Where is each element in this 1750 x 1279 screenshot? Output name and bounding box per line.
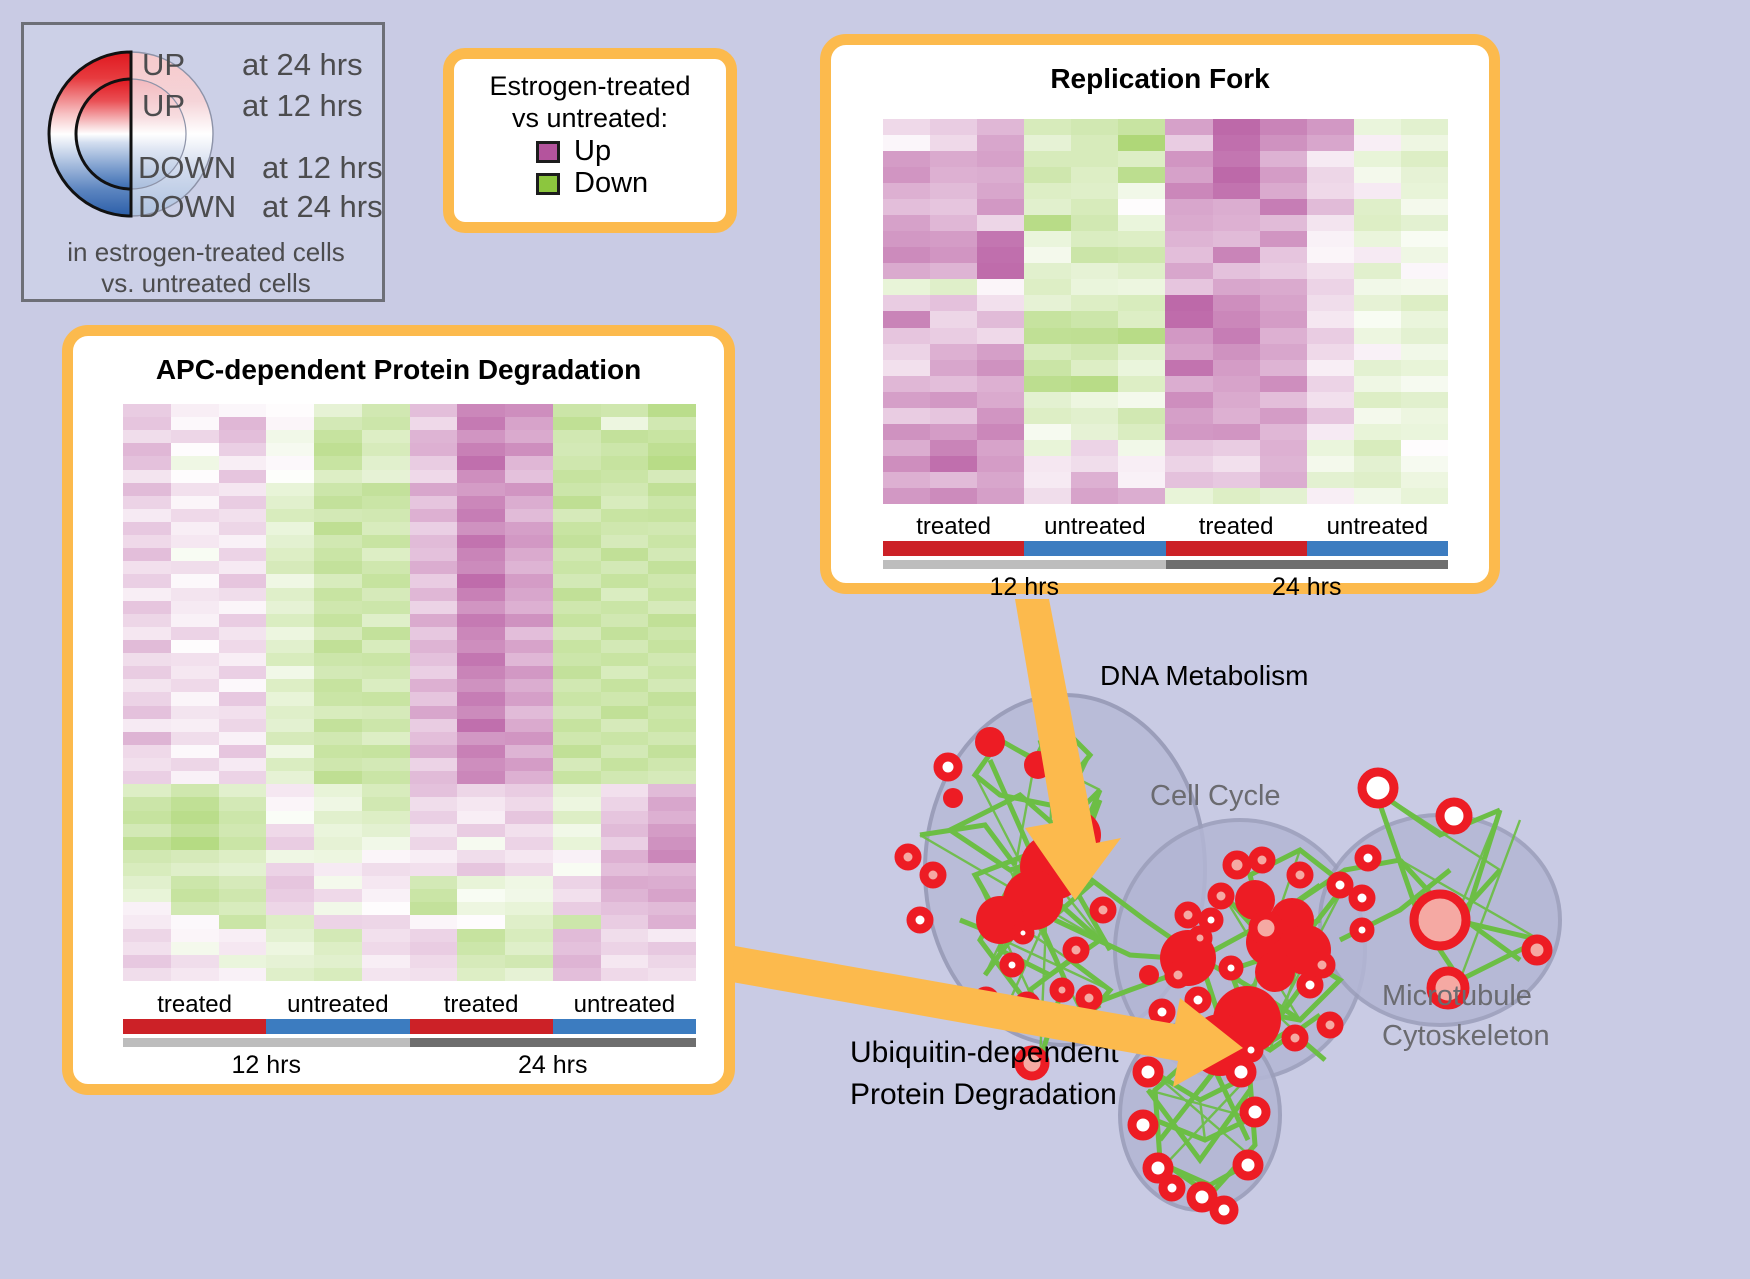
apc-group-label-2: treated [410,991,553,1019]
legend-swatch-down [536,173,560,195]
wheel-direction-down-24: DOWN [138,189,236,225]
cluster-label-cell-cycle: Cell Cycle [1150,780,1281,812]
apc-heatmap [123,404,696,981]
wheel-time-down-24: at 24 hrs [262,189,383,225]
apc-group-label-0: treated [123,991,266,1019]
color-wheel-legend-box: UP at 24 hrs UP at 12 hrs DOWN at 12 hrs… [21,22,385,302]
cluster-label-dna-metabolism: DNA Metabolism [1100,660,1309,691]
legend-item-up: Up [536,137,726,166]
cluster-label-ubiquitin-line2: Protein Degradation [850,1078,1117,1111]
wheel-direction-down-12: DOWN [138,150,236,186]
wheel-footer-line1: in estrogen-treated cells [24,237,388,268]
gene-network-diagram: DNA Metabolism Cell Cycle Microtubule Cy… [800,620,1750,1279]
wheel-time-up-24: at 24 hrs [242,47,363,83]
rf-group-label-2: treated [1166,513,1307,541]
replication-fork-axis: treated untreated treated untreated 12 h… [883,513,1448,602]
wheel-footer-text: in estrogen-treated cells vs. untreated … [24,237,388,298]
wheel-footer-line2: vs. untreated cells [24,268,388,299]
apc-group-label-3: untreated [553,991,696,1019]
rf-time-label-12: 12 hrs [883,573,1166,602]
rf-group-label-1: untreated [1024,513,1165,541]
legend-label-up: Up [574,137,611,166]
rf-group-label-0: treated [883,513,1024,541]
apc-group-label-1: untreated [266,991,409,1019]
cluster-label-ubiquitin-line1: Ubiquitin-dependent [850,1036,1119,1069]
rf-timepoint-bar [883,560,1448,569]
apc-time-label-24: 24 hrs [410,1051,697,1080]
wheel-time-down-12: at 12 hrs [262,150,383,186]
legend-title-line1: Estrogen-treated [454,71,726,103]
apc-timepoint-bar [123,1038,696,1047]
rf-time-labels: 12 hrs 24 hrs [883,573,1448,602]
replication-fork-panel: Replication Fork treated untreated treat… [820,34,1500,594]
rf-group-labels: treated untreated treated untreated [883,513,1448,541]
wheel-time-up-12: at 12 hrs [242,88,363,124]
rf-treatment-bar [883,541,1448,556]
rf-group-label-3: untreated [1307,513,1448,541]
cluster-label-microtubule-line1: Microtubule [1382,980,1532,1012]
updown-legend-panel: Estrogen-treated vs untreated: Up Down [443,48,737,233]
apc-time-label-12: 12 hrs [123,1051,410,1080]
legend-title-line2: vs untreated: [454,103,726,135]
apc-group-labels: treated untreated treated untreated [123,991,696,1019]
cluster-label-microtubule-line2: Cytoskeleton [1382,1020,1550,1052]
legend-title: Estrogen-treated vs untreated: [454,59,726,134]
legend-swatch-up [536,141,560,163]
wheel-direction-up-24: UP [142,47,185,83]
legend-item-down: Down [536,169,726,198]
replication-fork-title: Replication Fork [831,63,1489,95]
apc-panel: APC-dependent Protein Degradation treate… [62,325,735,1095]
legend-label-down: Down [574,169,648,198]
apc-title: APC-dependent Protein Degradation [73,354,724,386]
rf-time-label-24: 24 hrs [1166,573,1449,602]
apc-axis: treated untreated treated untreated 12 h… [123,991,696,1080]
apc-time-labels: 12 hrs 24 hrs [123,1051,696,1080]
replication-fork-heatmap [883,119,1448,504]
apc-treatment-bar [123,1019,696,1034]
wheel-direction-up-12: UP [142,88,185,124]
